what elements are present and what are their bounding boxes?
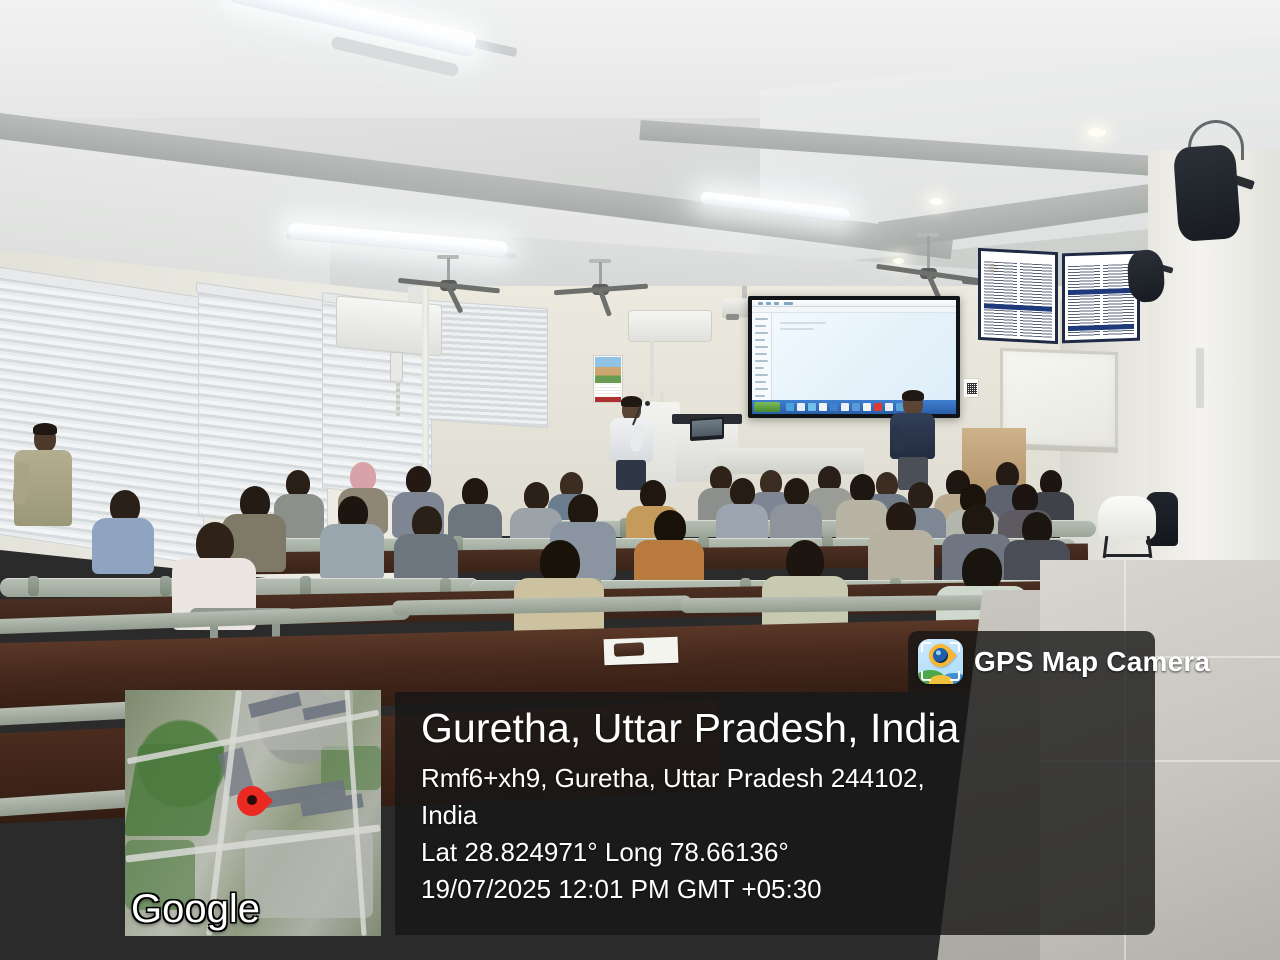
presenter-with-microphone xyxy=(604,398,660,490)
location-details: Rmf6+xh9, Guretha, Uttar Pradesh 244102,… xyxy=(421,760,1141,908)
attendee-hair xyxy=(33,423,57,435)
gps-map-camera-label: GPS Map Camera xyxy=(974,646,1210,678)
attendee-head xyxy=(908,482,933,510)
attendee-head xyxy=(462,478,488,507)
gps-map-camera-badge: GPS Map Camera xyxy=(908,631,1155,692)
seat-divider xyxy=(300,576,311,596)
location-title: Guretha, Uttar Pradesh, India xyxy=(421,704,959,752)
notice-board xyxy=(978,248,1058,344)
screen-app-titlebar xyxy=(752,300,956,307)
ac-drain-pipe xyxy=(650,340,654,398)
attendee-torso xyxy=(92,518,154,574)
attendee-torso xyxy=(320,524,384,580)
qr-code-plate xyxy=(963,378,979,398)
wall-switch-plate xyxy=(1196,348,1204,408)
coordinates-line: Lat 28.824971° Long 78.66136° xyxy=(421,834,1141,871)
ceiling-downlight xyxy=(893,258,904,264)
ceiling-downlight xyxy=(1088,128,1106,137)
pin-center-dot xyxy=(247,795,257,805)
camera-lens-icon xyxy=(933,648,948,663)
attendee-torso xyxy=(868,530,934,586)
mobile-phone xyxy=(614,642,645,657)
wall-speaker xyxy=(1173,144,1241,242)
phone-cord xyxy=(396,380,400,416)
window-blinds xyxy=(428,300,548,428)
address-line-1: Rmf6+xh9, Guretha, Uttar Pradesh 244102, xyxy=(421,760,1141,797)
microphone-tip xyxy=(645,401,650,406)
podium-monitor xyxy=(690,417,724,441)
seat-divider xyxy=(28,576,39,596)
attendee-standing-left xyxy=(14,426,76,526)
attendee-head xyxy=(850,474,875,502)
screenshot-root: GPS Map Camera Guretha, Uttar Pradesh, I… xyxy=(0,0,1280,960)
focus-bracket-icon xyxy=(950,671,960,681)
screen-start-button xyxy=(754,402,780,412)
wall-phone xyxy=(390,352,403,382)
gps-map-camera-icon xyxy=(918,639,963,684)
attendee-head xyxy=(286,470,310,497)
podium-monitor-screen xyxy=(692,419,722,437)
focus-bracket-icon xyxy=(921,642,931,652)
location-overlay-panel: Guretha, Uttar Pradesh, India Rmf6+xh9, … xyxy=(395,692,1155,935)
attendee-head xyxy=(524,482,549,510)
attendee-head xyxy=(730,478,755,506)
timestamp-line: 19/07/2025 12:01 PM GMT +05:30 xyxy=(421,871,1141,908)
focus-bracket-icon xyxy=(950,642,960,652)
fan-rod xyxy=(927,236,930,272)
wall-pipe xyxy=(422,288,429,488)
chair-seat xyxy=(1098,496,1156,540)
map-thumbnail[interactable]: Google xyxy=(125,690,381,936)
front-table xyxy=(716,448,864,474)
address-line-2: India xyxy=(421,797,1141,834)
wall-speaker xyxy=(1127,249,1166,303)
wall-calendar xyxy=(593,355,623,403)
attendee-head xyxy=(640,480,666,509)
chair-rung xyxy=(1104,554,1152,557)
ceiling-downlight xyxy=(930,198,943,205)
attendee-head xyxy=(784,478,809,506)
attendee-head xyxy=(350,462,376,491)
focus-bracket-icon xyxy=(921,671,931,681)
screen-app-sidebar xyxy=(752,313,772,400)
qr-code-icon xyxy=(967,383,977,394)
attendee-head xyxy=(406,466,431,494)
map-location-pin xyxy=(237,786,267,826)
seat-divider xyxy=(160,576,171,596)
screen-app-toolbar xyxy=(752,307,956,313)
notice-columns xyxy=(984,261,1052,338)
google-watermark: Google xyxy=(131,888,260,930)
projector-lens xyxy=(726,314,739,320)
air-conditioner-unit xyxy=(628,310,712,342)
attendee-head xyxy=(1012,484,1038,513)
calendar-grid xyxy=(596,385,620,396)
calendar-image xyxy=(595,357,621,383)
presenter-hair xyxy=(902,390,924,401)
white-chair xyxy=(1098,496,1158,558)
